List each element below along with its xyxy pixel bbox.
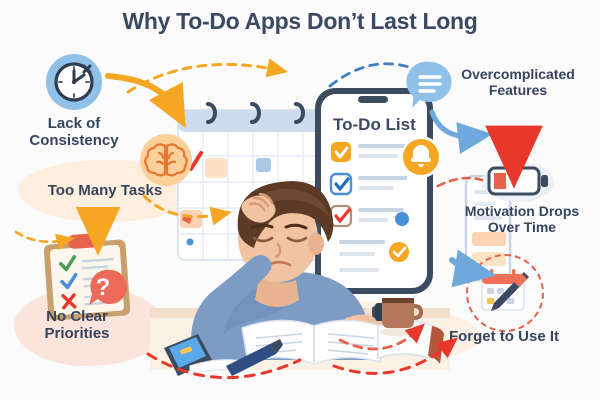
connector-chat-to-battery — [432, 112, 476, 137]
connector-bell-to-battery — [438, 178, 482, 186]
connector-bottom-loop-left — [148, 354, 300, 378]
connector-layer — [0, 0, 600, 400]
infographic-canvas: Why To-Do Apps Don’t Last Long — [0, 0, 600, 400]
connector-bottom-loop-right — [334, 344, 450, 373]
connector-tablet-to-calendar — [452, 260, 476, 272]
connector-left-mid-dashed — [16, 232, 66, 242]
connector-brain-to-figure — [144, 196, 222, 217]
connector-clock-to-calendar — [108, 76, 176, 110]
connector-phone-to-chat — [330, 64, 412, 86]
connector-mug-arc — [340, 330, 418, 349]
